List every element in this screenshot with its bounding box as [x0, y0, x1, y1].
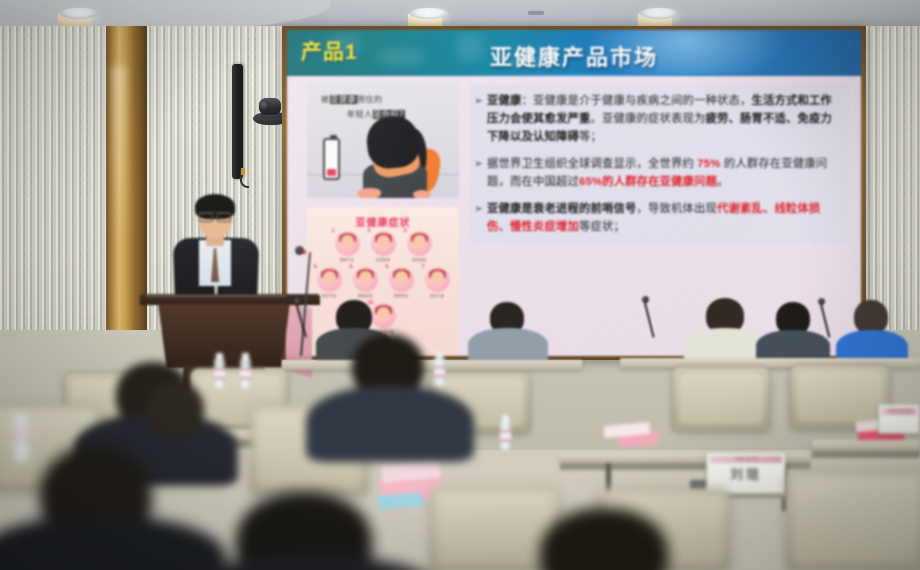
microphone-indicator: [302, 250, 306, 254]
symptom-item: 7.抵抗力差: [422, 267, 452, 299]
camera-lens: [260, 100, 270, 111]
water-bottle: [434, 356, 445, 386]
water-bottle: [240, 358, 251, 388]
name-placard: 中国人民大学: [878, 404, 920, 434]
symptom-row: 1.睡眠不足 2.容易疲倦 3.体质虚弱: [307, 231, 459, 263]
microphone-head: [818, 298, 825, 305]
symptom-item: 1.睡眠不足: [332, 231, 362, 263]
eyeglasses: [199, 212, 231, 219]
slide-body: 被亚健康困住的 年轻人是你吗?: [287, 76, 861, 356]
slide-bullet-panel: ➢ 亚健康：亚健康是介于健康与疾病之间的一种状态，生活方式和工作压力会使其愈发严…: [470, 84, 850, 244]
placard-name: 刘琨: [707, 464, 785, 483]
symptom-row: 4.食欲不振 5.情绪低落 6.精神紧张 7.抵抗力差: [307, 267, 459, 299]
slide-title: 亚健康产品市场: [287, 40, 861, 72]
bullet-text: 亚健康：亚健康是介于健康与疾病之间的一种状态，生活方式和工作压力会使其愈发严重。…: [487, 92, 842, 146]
audience-chair: [790, 364, 890, 428]
microphone-head: [642, 296, 649, 303]
bullet-marker: ➢: [474, 200, 487, 236]
symptom-item: 5.情绪低落: [350, 267, 380, 299]
water-bottle: [500, 420, 511, 450]
slide-illustrations: 被亚健康困住的 年轻人是你吗?: [307, 82, 459, 356]
conference-room-photo: 产品1 亚健康产品市场 被亚健康困住的 年轻人是你吗?: [0, 0, 920, 570]
bullet-item: ➢ 亚健康：亚健康是介于健康与疾病之间的一种状态，生活方式和工作压力会使其愈发严…: [474, 92, 842, 146]
seated-person-illustration: [353, 116, 445, 198]
audience-chair: [786, 470, 920, 570]
brass-highlight: [112, 66, 126, 246]
audience-chair: [672, 366, 770, 430]
bullet-marker: ➢: [474, 155, 487, 191]
bullet-marker: ➢: [474, 92, 487, 146]
slide-header-band: 产品1 亚健康产品市场: [287, 30, 861, 76]
speaker-cable-tip: [241, 168, 245, 175]
illustration-burnout: 被亚健康困住的 年轻人是你吗?: [307, 82, 459, 198]
audience-shoulders: [306, 386, 474, 462]
microphone-head: [294, 298, 301, 305]
audience-head: [854, 300, 888, 334]
placard-affiliation-band: 中国人民大学: [710, 456, 782, 463]
conference-desk: [282, 360, 582, 370]
presenter: [170, 196, 262, 308]
water-bottle: [14, 418, 30, 462]
ceiling-vent: [528, 11, 544, 15]
foreground-shoulders: [0, 516, 226, 570]
low-battery-icon: [323, 138, 340, 180]
illustration-caption-line1: 被亚健康困住的: [321, 94, 383, 105]
ceiling-downlight: [640, 8, 678, 19]
audience-head: [146, 382, 204, 436]
symptom-item: 3.体质虚弱: [404, 231, 434, 263]
audience-shoulders: [468, 328, 548, 364]
bullet-item: ➢ 据世界卫生组织全球调查显示，全世界约 75% 的人群存在亚健康问题，而在中国…: [474, 155, 842, 191]
symptom-item: 2.容易疲倦: [368, 231, 398, 263]
camera-body: [259, 98, 281, 115]
ceiling-downlight: [410, 8, 448, 19]
bullet-text: 据世界卫生组织全球调查显示，全世界约 75% 的人群存在亚健康问题，而在中国超过…: [487, 155, 842, 191]
conference-desk: [812, 440, 920, 451]
placard-affiliation-band: 中国人民大学: [882, 408, 916, 415]
bullet-item: ➢ 亚健康是衰老进程的前哨信号，导致机体出现代谢紊乱、线粒体损伤、慢性炎症增加等…: [474, 200, 842, 236]
bullet-text: 亚健康是衰老进程的前哨信号，导致机体出现代谢紊乱、线粒体损伤、慢性炎症增加等症状…: [487, 200, 842, 236]
ceiling-downlight: [60, 8, 98, 19]
symptoms-title: 亚健康症状: [307, 214, 459, 229]
projection-screen: 产品1 亚健康产品市场 被亚健康困住的 年轻人是你吗?: [287, 30, 861, 356]
column-speaker: [232, 64, 243, 179]
symptom-item: 6.精神紧张: [386, 267, 416, 299]
document-paper: [378, 492, 423, 509]
water-bottle: [214, 358, 225, 388]
symptoms-grid: 1.睡眠不足 2.容易疲倦 3.体质虚弱 4.食欲不振 5.情绪低落 6.精神紧…: [307, 231, 459, 339]
